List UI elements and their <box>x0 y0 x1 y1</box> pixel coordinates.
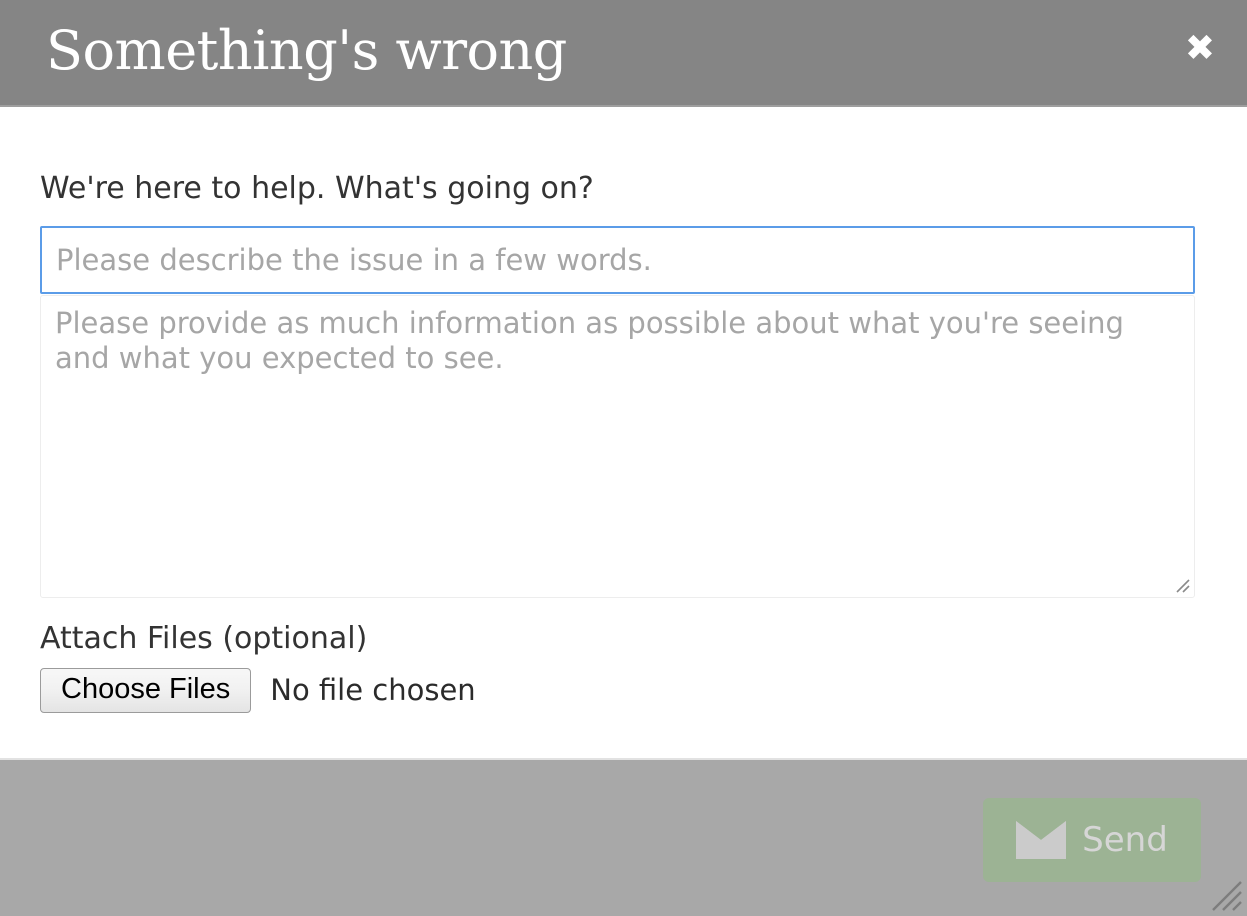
send-button-label: Send <box>1082 823 1168 857</box>
envelope-icon <box>1016 821 1066 859</box>
prompt-label: We're here to help. What's going on? <box>40 107 1207 204</box>
file-status-text: No file chosen <box>270 676 475 705</box>
issue-details-wrap <box>40 295 1195 598</box>
close-icon: ✖ <box>1185 31 1215 67</box>
choose-files-button[interactable]: Choose Files <box>40 668 251 713</box>
issue-details-textarea[interactable] <box>40 295 1195 598</box>
dialog-resize-grip-icon[interactable] <box>1209 878 1243 912</box>
dialog-header: Something's wrong ✖ <box>0 0 1247 107</box>
send-button[interactable]: Send <box>983 798 1201 882</box>
dialog-footer: Send <box>0 758 1247 916</box>
attach-files-label: Attach Files (optional) <box>40 624 1207 654</box>
file-input-row: Choose Files No file chosen <box>40 668 1207 713</box>
dialog-title: Something's wrong <box>46 24 567 78</box>
issue-summary-input[interactable] <box>40 226 1195 294</box>
dialog-body: We're here to help. What's going on? Att… <box>0 107 1247 758</box>
something-wrong-dialog: Something's wrong ✖ We're here to help. … <box>0 0 1247 916</box>
close-button[interactable]: ✖ <box>1179 28 1221 70</box>
